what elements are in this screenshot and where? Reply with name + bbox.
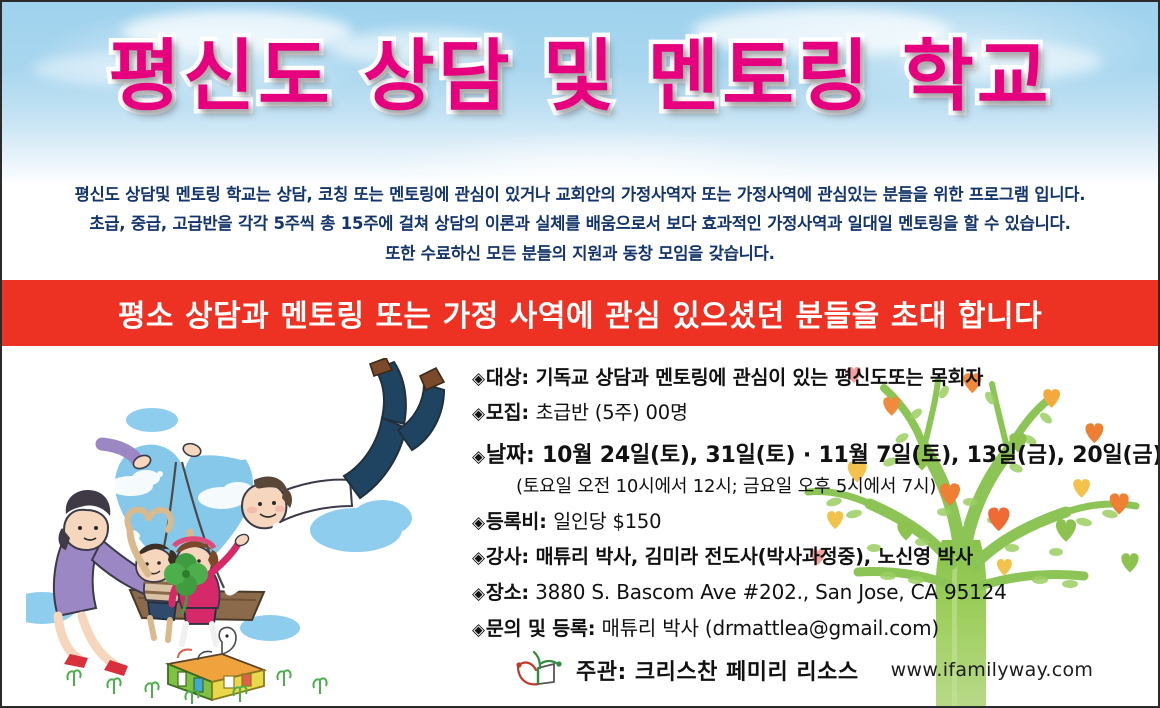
diamond-bullet-icon: ◈ (472, 369, 485, 389)
poster-title: 평신도 상담 및 멘토링 학교 (2, 34, 1158, 121)
organizer-website: www.ifamilyway.com (891, 659, 1094, 681)
detail-label-dates: 날짜: (486, 443, 535, 468)
invitation-banner: 평소 상담과 멘토링 또는 가정 사역에 관심 있으셨던 분들을 초대 합니다 (2, 280, 1158, 346)
detail-value-target: 기독교 상담과 멘토링에 관심이 있는 평신도또는 목회자 (536, 366, 984, 389)
detail-label-instructors: 강사: (486, 545, 529, 568)
detail-value-instructors: 매튜리 박사, 김미라 전도사(박사과정중), 노신영 박사 (536, 545, 973, 568)
detail-row-date-note: (토요일 오전 10시에서 12시; 금요일 오후 5시에서 7시) (472, 478, 1160, 496)
detail-row-location: ◈장소: 3880 S. Bascom Ave #202., San Jose,… (472, 582, 1160, 603)
detail-label-location: 장소: (486, 581, 529, 604)
detail-label-recruitment: 모집: (486, 401, 529, 424)
detail-label-target: 대상: (486, 366, 529, 389)
detail-label-fee: 등록비: (486, 510, 547, 533)
detail-row-recruitment: ◈모집: 초급반 (5주) 00명 (472, 403, 1160, 423)
diamond-bullet-icon: ◈ (472, 548, 485, 568)
organizer-footer: 주관: 크리스찬 페미리 리소스 www.ifamilyway.com (514, 650, 1093, 690)
christian-family-resources-logo-icon (514, 650, 566, 690)
diamond-bullet-icon: ◈ (472, 620, 485, 640)
description-line-1: 평신도 상담및 멘토링 학교는 상담, 코칭 또는 멘토링에 관심이 있거나 교… (30, 180, 1130, 209)
detail-row-target: ◈대상: 기독교 상담과 멘토링에 관심이 있는 평신도또는 목회자 (472, 368, 1160, 388)
invitation-banner-text: 평소 상담과 멘토링 또는 가정 사역에 관심 있으셨던 분들을 초대 합니다 (118, 291, 1042, 335)
diamond-bullet-icon: ◈ (472, 584, 485, 604)
detail-label-contact: 문의 및 등록: (486, 617, 595, 640)
details-list: ◈대상: 기독교 상담과 멘토링에 관심이 있는 평신도또는 목회자 ◈모집: … (472, 368, 1160, 654)
detail-row-dates: ◈날짜: 10월 24일(토), 31일(토) · 11월 7일(토), 13일… (472, 445, 1160, 467)
detail-value-recruitment: 초급반 (5주) 00명 (536, 401, 688, 424)
diamond-bullet-icon: ◈ (472, 404, 485, 424)
detail-value-contact: 매튜리 박사 (drmattlea@gmail.com) (602, 616, 939, 640)
detail-value-dates: 10월 24일(토), 31일(토) · 11월 7일(토), 13일(금), … (542, 443, 1160, 468)
diamond-bullet-icon: ◈ (472, 513, 485, 533)
detail-value-fee: 일인당 $150 (553, 510, 661, 533)
description-line-2: 초급, 중급, 고급반을 각각 5주씩 총 15주에 걸쳐 상담의 이론과 실체… (30, 209, 1130, 238)
poster-root: 평신도 상담 및 멘토링 학교 평신도 상담및 멘토링 학교는 상담, 코칭 또… (0, 0, 1160, 708)
description-block: 평신도 상담및 멘토링 학교는 상담, 코칭 또는 멘토링에 관심이 있거나 교… (2, 180, 1158, 268)
organizer-label: 주관: 크리스찬 페미리 리소스 (576, 654, 859, 686)
detail-row-instructors: ◈강사: 매튜리 박사, 김미라 전도사(박사과정중), 노신영 박사 (472, 547, 1160, 567)
detail-row-fee: ◈등록비: 일인당 $150 (472, 512, 1160, 532)
detail-value-location: 3880 S. Bascom Ave #202., San Jose, CA 9… (535, 580, 1007, 604)
description-line-3: 또한 수료하신 모든 분들의 지원과 동창 모임을 갖습니다. (30, 239, 1130, 268)
diamond-bullet-icon: ◈ (472, 447, 485, 467)
detail-row-contact: ◈문의 및 등록: 매튜리 박사 (drmattlea@gmail.com) (472, 618, 1160, 639)
